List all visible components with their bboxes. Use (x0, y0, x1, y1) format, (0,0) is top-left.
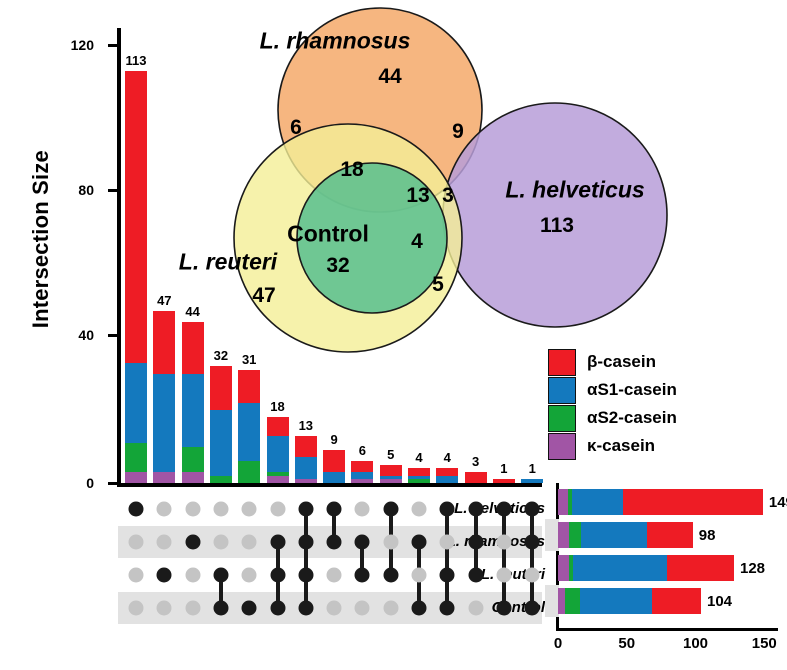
bar-segment-beta (493, 479, 515, 483)
legend-swatch-icon (548, 377, 576, 404)
intersection-bar-value: 9 (330, 432, 337, 447)
bar-segment-aS1 (182, 374, 204, 447)
venn-label-rhamnosus: L. rhamnosus (260, 28, 411, 55)
venn-label-control: Control (287, 221, 369, 248)
setsize-bar-value: 104 (707, 593, 732, 610)
setsize-x-tick: 100 (683, 635, 708, 652)
bar-segment-aS2 (125, 443, 147, 472)
intersection-bar (408, 468, 430, 483)
intersection-bar-value: 18 (270, 399, 284, 414)
setsize-row-band (545, 585, 559, 617)
bar-segment-aS1 (125, 363, 147, 443)
venn-label-helveticus: L. helveticus (505, 177, 644, 204)
matrix-connector (445, 509, 449, 608)
venn-value-rhamnosus: 44 (378, 65, 401, 89)
intersection-bar (351, 461, 373, 483)
bar-segment-kappa (125, 472, 147, 483)
matrix-dot-filled[interactable] (440, 601, 455, 616)
legend-label: β-casein (587, 352, 656, 372)
intersection-bar (493, 479, 515, 483)
matrix-dot-filled[interactable] (185, 535, 200, 550)
intersection-bar-value: 47 (157, 293, 171, 308)
upset-dot-matrix: L. helveticusL. rhamnosusL. reuteriContr… (0, 490, 545, 635)
venn-label-reuteri: L. reuteri (179, 249, 277, 276)
setsize-segment-beta (652, 588, 702, 614)
bar-segment-aS1 (323, 472, 345, 483)
bar-segment-aS1 (267, 436, 289, 473)
bar-segment-kappa (182, 472, 204, 483)
matrix-dot-empty[interactable] (242, 568, 257, 583)
bar-segment-kappa (380, 479, 402, 483)
setsize-x-tick: 0 (554, 635, 562, 652)
matrix-dot-filled[interactable] (468, 502, 483, 517)
bar-segment-aS2 (210, 476, 232, 483)
matrix-dot-filled[interactable] (327, 502, 342, 517)
intersection-bar (210, 366, 232, 483)
intersection-bar (465, 472, 487, 483)
setsize-segment-aS1 (581, 522, 647, 548)
x-axis-line (117, 483, 542, 487)
intersection-bar (436, 468, 458, 483)
venn-value-helveticus: 113 (540, 214, 574, 238)
matrix-dot-filled[interactable] (327, 535, 342, 550)
matrix-dot-empty[interactable] (496, 568, 511, 583)
matrix-dot-empty[interactable] (496, 535, 511, 550)
intersection-bar-value: 44 (185, 304, 199, 319)
venn-value-all-four: 13 (406, 184, 429, 208)
intersection-bar-value: 4 (415, 450, 422, 465)
matrix-dot-empty[interactable] (525, 568, 540, 583)
matrix-dot-filled[interactable] (525, 601, 540, 616)
legend-item[interactable]: αS2-casein (548, 404, 748, 432)
casein-legend: β-caseinαS1-caseinαS2-caseinκ-casein (548, 348, 748, 460)
matrix-dot-empty[interactable] (213, 535, 228, 550)
bar-segment-aS2 (182, 447, 204, 473)
intersection-bar-value: 3 (472, 454, 479, 469)
setsize-bar (558, 522, 693, 548)
matrix-dot-empty[interactable] (327, 568, 342, 583)
matrix-dot-filled[interactable] (157, 568, 172, 583)
setsize-segment-kappa (558, 555, 569, 581)
bar-segment-beta (323, 450, 345, 472)
bar-segment-aS2 (408, 479, 430, 483)
setsize-segment-aS2 (569, 522, 581, 548)
matrix-dot-filled[interactable] (270, 601, 285, 616)
intersection-bar (238, 370, 260, 483)
matrix-dot-empty[interactable] (129, 601, 144, 616)
venn-value-rhamnosus-reuteri-helveticus: 3 (442, 184, 454, 208)
setsize-row-band (545, 519, 559, 551)
bar-segment-beta (351, 461, 373, 472)
matrix-dot-filled[interactable] (383, 568, 398, 583)
legend-label: αS2-casein (587, 408, 677, 428)
setsize-segment-aS1 (580, 588, 652, 614)
matrix-dot-empty[interactable] (383, 535, 398, 550)
matrix-dot-empty[interactable] (440, 535, 455, 550)
matrix-dot-filled[interactable] (298, 601, 313, 616)
matrix-dot-filled[interactable] (270, 568, 285, 583)
setsize-bar-value: 128 (740, 560, 765, 577)
bar-segment-kappa (295, 479, 317, 483)
legend-label: κ-casein (587, 436, 655, 456)
bar-segment-beta (153, 311, 175, 373)
intersection-bar-value: 1 (500, 461, 507, 476)
setsize-bar-value: 98 (699, 527, 716, 544)
bar-segment-aS1 (351, 472, 373, 479)
matrix-dot-empty[interactable] (412, 568, 427, 583)
bar-segment-aS1 (153, 374, 175, 473)
matrix-dot-filled[interactable] (525, 535, 540, 550)
intersection-bar (125, 71, 147, 483)
venn-value-reuteri-helveticus: 5 (432, 273, 444, 297)
matrix-dot-filled[interactable] (496, 502, 511, 517)
intersection-bar (295, 436, 317, 483)
setsize-segment-aS2 (565, 588, 580, 614)
matrix-dot-filled[interactable] (242, 601, 257, 616)
setsize-segment-aS1 (573, 555, 667, 581)
matrix-dot-empty[interactable] (185, 502, 200, 517)
matrix-dot-filled[interactable] (298, 535, 313, 550)
matrix-dot-empty[interactable] (355, 601, 370, 616)
matrix-dot-filled[interactable] (383, 502, 398, 517)
bar-segment-beta (238, 370, 260, 403)
matrix-dot-filled[interactable] (440, 568, 455, 583)
venn-value-reuteri-control-helveticus: 4 (411, 230, 423, 254)
legend-item[interactable]: αS1-casein (548, 376, 748, 404)
bar-segment-beta (295, 436, 317, 458)
legend-swatch-icon (548, 433, 576, 460)
matrix-dot-empty[interactable] (157, 601, 172, 616)
legend-label: αS1-casein (587, 380, 677, 400)
bar-segment-beta (267, 417, 289, 435)
legend-item[interactable]: κ-casein (548, 432, 748, 460)
matrix-dot-empty[interactable] (355, 502, 370, 517)
venn-value-reuteri: 47 (252, 284, 275, 308)
setsize-x-axis (556, 628, 778, 631)
intersection-bar-value: 1 (529, 461, 536, 476)
matrix-dot-filled[interactable] (270, 535, 285, 550)
setsize-segment-kappa (558, 489, 568, 515)
matrix-dot-filled[interactable] (496, 601, 511, 616)
setsize-segment-beta (667, 555, 734, 581)
legend-item[interactable]: β-casein (548, 348, 748, 376)
intersection-bar (521, 479, 543, 483)
matrix-dot-filled[interactable] (129, 502, 144, 517)
venn-value-control: 32 (326, 254, 349, 278)
venn-value-rhamnosus-reuteri-control: 18 (340, 158, 363, 182)
matrix-dot-empty[interactable] (213, 502, 228, 517)
setsize-segment-kappa (558, 522, 569, 548)
bar-segment-beta (210, 366, 232, 410)
matrix-dot-empty[interactable] (242, 502, 257, 517)
matrix-dot-filled[interactable] (298, 502, 313, 517)
intersection-bar-value: 5 (387, 447, 394, 462)
intersection-bar (380, 465, 402, 483)
matrix-dot-empty[interactable] (412, 502, 427, 517)
bar-segment-kappa (351, 479, 373, 483)
bar-segment-beta (125, 71, 147, 363)
setsize-segment-beta (623, 489, 763, 515)
setsize-bar (558, 555, 734, 581)
setsize-bar (558, 588, 701, 614)
matrix-dot-empty[interactable] (383, 601, 398, 616)
bar-segment-beta (408, 468, 430, 475)
intersection-bar-value: 4 (444, 450, 451, 465)
matrix-dot-empty[interactable] (242, 535, 257, 550)
bar-segment-aS1 (521, 479, 543, 483)
matrix-dot-filled[interactable] (355, 535, 370, 550)
matrix-dot-filled[interactable] (412, 601, 427, 616)
setsize-x-tick: 150 (752, 635, 777, 652)
matrix-dot-empty[interactable] (129, 568, 144, 583)
bar-segment-aS1 (238, 403, 260, 461)
intersection-bar-value: 6 (359, 443, 366, 458)
bar-segment-aS2 (238, 461, 260, 483)
matrix-dot-empty[interactable] (327, 601, 342, 616)
matrix-dot-filled[interactable] (468, 535, 483, 550)
matrix-dot-filled[interactable] (525, 502, 540, 517)
set-size-barchart: 14998128104050100150 (545, 483, 787, 670)
legend-swatch-icon (548, 405, 576, 432)
intersection-bar (267, 417, 289, 483)
bar-segment-beta (436, 468, 458, 475)
setsize-bar (558, 489, 763, 515)
matrix-dot-empty[interactable] (185, 568, 200, 583)
matrix-dot-filled[interactable] (213, 568, 228, 583)
matrix-connector (502, 509, 506, 608)
venn-value-rhamnosus-reuteri: 6 (290, 116, 302, 140)
intersection-bar (323, 450, 345, 483)
bar-segment-beta (465, 472, 487, 483)
matrix-connector (530, 509, 534, 608)
bar-segment-kappa (153, 472, 175, 483)
matrix-dot-filled[interactable] (355, 568, 370, 583)
legend-swatch-icon (548, 349, 576, 376)
matrix-connector (304, 509, 308, 608)
matrix-dot-empty[interactable] (468, 601, 483, 616)
venn-diagram: L. rhamnosus 44 L. helveticus 113 L. reu… (200, 0, 787, 360)
matrix-dot-empty[interactable] (157, 535, 172, 550)
intersection-bar-value: 113 (126, 53, 147, 68)
setsize-segment-kappa (558, 588, 565, 614)
matrix-dot-filled[interactable] (468, 568, 483, 583)
matrix-dot-empty[interactable] (157, 502, 172, 517)
intersection-bar (153, 311, 175, 483)
setsize-segment-aS1 (572, 489, 623, 515)
setsize-segment-beta (647, 522, 692, 548)
intersection-bar-value: 13 (299, 418, 313, 433)
matrix-dot-filled[interactable] (298, 568, 313, 583)
matrix-dot-empty[interactable] (185, 601, 200, 616)
matrix-dot-empty[interactable] (129, 535, 144, 550)
bar-segment-kappa (267, 476, 289, 483)
matrix-dot-empty[interactable] (270, 502, 285, 517)
setsize-x-tick: 50 (618, 635, 635, 652)
setsize-bar-value: 149 (769, 494, 787, 511)
bar-segment-aS1 (436, 476, 458, 483)
matrix-dot-filled[interactable] (412, 535, 427, 550)
bar-segment-aS1 (295, 457, 317, 479)
bar-segment-beta (380, 465, 402, 476)
bar-segment-aS1 (210, 410, 232, 476)
venn-value-rhamnosus-helveticus: 9 (452, 120, 464, 144)
matrix-dot-filled[interactable] (213, 601, 228, 616)
matrix-dot-filled[interactable] (440, 502, 455, 517)
